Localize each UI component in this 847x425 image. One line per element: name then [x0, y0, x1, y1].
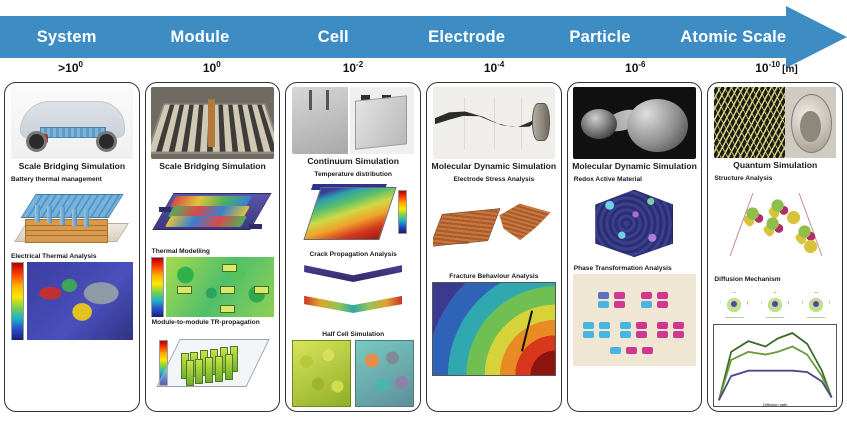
- polyhedron-icon: [761, 292, 789, 318]
- section-label-battery-thermal-management: Battery thermal management: [11, 177, 102, 184]
- panel-method-atomic-scale: Quantum Simulation: [733, 161, 817, 170]
- panel-electrode: Molecular Dynamic Simulation Electrode S…: [426, 82, 562, 412]
- section-label-electrical-thermal-analysis: Electrical Thermal Analysis: [11, 254, 97, 261]
- diffusion-energy-barrier-plot: Diffusion path: [713, 324, 838, 407]
- electrode-sheet-stress-model: [433, 185, 556, 271]
- section-label-temperature-distribution: Temperature distribution: [314, 172, 392, 179]
- fracture-contour-plot: [432, 282, 557, 376]
- panel-particle: Molecular Dynamic Simulation Redox Activ…: [567, 82, 703, 412]
- module-thermal-heatmap: [151, 257, 274, 317]
- panel-method-cell: Continuum Simulation: [307, 157, 399, 166]
- thermal-field: [27, 262, 134, 340]
- exponent-atomic-scale: 10-10[m]: [706, 60, 847, 82]
- section-label-crack-propagation-analysis: Crack Propagation Analysis: [310, 252, 397, 259]
- scale-label-particle: Particle: [533, 28, 666, 47]
- tr-propagation-3d-model: [151, 328, 274, 398]
- panel-system: Scale Bridging Simulation Battery therma…: [4, 82, 140, 412]
- exponent-cell: 10-2: [282, 60, 423, 82]
- section-label-half-cell-simulation: Half Cell Simulation: [322, 332, 384, 339]
- scale-label-electrode: Electrode: [400, 28, 533, 47]
- section-label-electrode-stress-analysis: Electrode Stress Analysis: [453, 177, 534, 184]
- panel-atomic-scale: Quantum Simulation Structure Analysis Di…: [707, 82, 843, 412]
- scale-arrow: System Module Cell Electrode Particle At…: [0, 6, 847, 58]
- phase-transformation-schematic: [573, 274, 696, 366]
- unit-label: [m]: [782, 64, 798, 75]
- scale-level-labels: System Module Cell Electrode Particle At…: [0, 16, 800, 58]
- panel-row: Scale Bridging Simulation Battery therma…: [0, 82, 847, 412]
- section-label-redox-active-material: Redox Active Material: [574, 177, 642, 184]
- panel-module: Scale Bridging Simulation Thermal Modell…: [145, 82, 281, 412]
- heatmap-field: [166, 257, 274, 317]
- exponent-electrode: 10-4: [424, 60, 565, 82]
- microstructure-cubes: [292, 340, 415, 407]
- tem-lattice-micrograph: [714, 87, 837, 158]
- lithiation-cube: [292, 340, 351, 407]
- energy-curves: [714, 325, 837, 406]
- x-axis-label: Diffusion path: [714, 402, 837, 407]
- temperature-colorbar: [11, 262, 24, 340]
- panel-method-system: Scale Bridging Simulation: [19, 162, 125, 171]
- sem-particle-micrograph: [573, 87, 696, 159]
- section-label-fracture-behaviour-analysis: Fracture Behaviour Analysis: [449, 274, 538, 281]
- section-label-phase-transformation-analysis: Phase Transformation Analysis: [574, 266, 672, 273]
- thermal-contour-map: [11, 262, 134, 340]
- battery-pack-cooling-3d-model: [11, 185, 134, 251]
- section-label-structure-analysis: Structure Analysis: [714, 176, 772, 183]
- section-label-module-to-module-tr-propagation: Module-to-module TR-propagation: [152, 320, 260, 327]
- atomistic-cube-model: [573, 185, 696, 263]
- exponent-particle: 10-6: [565, 60, 706, 82]
- scale-label-cell: Cell: [267, 28, 400, 47]
- exponent-module: 100: [141, 60, 282, 82]
- panel-method-particle: Molecular Dynamic Simulation: [572, 162, 697, 171]
- bent-cell-crack-model: [292, 260, 415, 329]
- diffusion-polyhedra: [714, 285, 837, 324]
- polyhedron-icon: [802, 292, 830, 318]
- panel-method-electrode: Molecular Dynamic Simulation: [432, 162, 557, 171]
- electrode-foil-photo: [433, 87, 556, 159]
- module-coolant-plate-3d-model: [151, 174, 274, 246]
- multiscale-simulation-figure: System Module Cell Electrode Particle At…: [0, 6, 847, 425]
- section-label-thermal-modelling: Thermal Modelling: [152, 249, 210, 256]
- atomic-cluster-scatter: [714, 184, 837, 274]
- battery-module-tray-photo: [151, 87, 274, 159]
- cell-temperature-contour: [292, 180, 415, 249]
- polyhedron-icon: [720, 292, 748, 318]
- exponent-system: >100: [0, 60, 141, 82]
- scale-label-system: System: [0, 28, 133, 47]
- pouch-cell-photo: [292, 87, 415, 154]
- scale-exponent-row: >100 100 10-2 10-4 10-6 10-10[m]: [0, 60, 847, 82]
- panel-method-module: Scale Bridging Simulation: [159, 162, 265, 171]
- electrolyte-concentration-cube: [355, 340, 414, 407]
- section-label-diffusion-mechanism: Diffusion Mechanism: [714, 277, 780, 284]
- scale-label-atomic-scale: Atomic Scale: [667, 28, 800, 47]
- panel-cell: Continuum Simulation Temperature distrib…: [285, 82, 421, 412]
- scale-label-module: Module: [133, 28, 266, 47]
- electric-vehicle-chassis-photo: [11, 87, 134, 159]
